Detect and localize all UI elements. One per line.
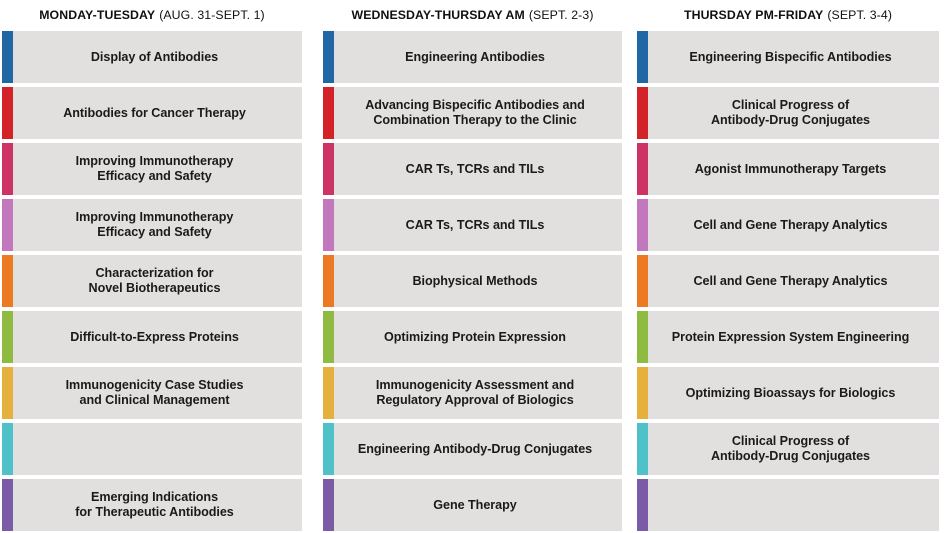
track-color-bar (323, 367, 334, 419)
track-color-bar (637, 423, 648, 475)
conference-track-grid: MONDAY-TUESDAY (AUG. 31-SEPT. 1) Display… (0, 0, 945, 533)
track-row-label: Improving Immunotherapy Efficacy and Saf… (76, 210, 234, 239)
column-header-day: WEDNESDAY-THURSDAY AM (351, 9, 524, 21)
track-row-body: Engineering Antibody-Drug Conjugates (334, 423, 622, 475)
track-row-label: Characterization for Novel Biotherapeuti… (89, 266, 221, 295)
track-row-body: Cell and Gene Therapy Analytics (648, 255, 939, 307)
track-row-body: Optimizing Protein Expression (334, 311, 622, 363)
track-row-body: Immunogenicity Assessment and Regulatory… (334, 367, 622, 419)
track-row-body: Gene Therapy (334, 479, 622, 531)
track-color-bar (2, 423, 13, 475)
column-header-day: THURSDAY PM-FRIDAY (684, 9, 823, 21)
track-row[interactable]: CAR Ts, TCRs and TILs (323, 143, 622, 195)
track-color-bar (637, 199, 648, 251)
track-row[interactable]: CAR Ts, TCRs and TILs (323, 199, 622, 251)
track-row[interactable]: Immunogenicity Case Studies and Clinical… (2, 367, 302, 419)
column-header-thursday-pm-friday: THURSDAY PM-FRIDAY (SEPT. 3-4) (637, 0, 939, 31)
track-row-label: Protein Expression System Engineering (672, 330, 910, 345)
track-color-bar (637, 87, 648, 139)
track-color-bar (637, 31, 648, 83)
column-gap-1 (302, 0, 323, 533)
track-row-body: Clinical Progress of Antibody-Drug Conju… (648, 87, 939, 139)
track-row-body: Biophysical Methods (334, 255, 622, 307)
track-row[interactable]: Clinical Progress of Antibody-Drug Conju… (637, 423, 939, 475)
track-color-bar (2, 31, 13, 83)
track-row[interactable] (637, 479, 939, 531)
track-row-label: Antibodies for Cancer Therapy (63, 106, 246, 121)
track-row-label: Engineering Antibody-Drug Conjugates (358, 442, 592, 457)
track-row-body: Protein Expression System Engineering (648, 311, 939, 363)
column-header-dates: (SEPT. 3-4) (827, 9, 892, 21)
track-row-label: Clinical Progress of Antibody-Drug Conju… (711, 98, 870, 127)
track-color-bar (2, 367, 13, 419)
track-row-body: Advancing Bispecific Antibodies and Comb… (334, 87, 622, 139)
track-row-label: Gene Therapy (433, 498, 516, 513)
track-column-wednesday-thursday-am: WEDNESDAY-THURSDAY AM (SEPT. 2-3) Engine… (323, 0, 622, 533)
track-color-bar (2, 87, 13, 139)
track-color-bar (323, 31, 334, 83)
track-row[interactable]: Cell and Gene Therapy Analytics (637, 199, 939, 251)
track-row-body: Engineering Antibodies (334, 31, 622, 83)
track-row-label: Biophysical Methods (412, 274, 537, 289)
track-color-bar (323, 423, 334, 475)
track-row-label: Improving Immunotherapy Efficacy and Saf… (76, 154, 234, 183)
track-row-label: Difficult-to-Express Proteins (70, 330, 239, 345)
track-color-bar (2, 311, 13, 363)
track-row-body: Antibodies for Cancer Therapy (13, 87, 302, 139)
track-row[interactable]: Advancing Bispecific Antibodies and Comb… (323, 87, 622, 139)
track-row-label: Advancing Bispecific Antibodies and Comb… (365, 98, 585, 127)
track-color-bar (2, 143, 13, 195)
column-header-dates: (SEPT. 2-3) (529, 9, 594, 21)
track-row-list: Display of AntibodiesAntibodies for Canc… (2, 31, 302, 531)
track-row[interactable]: Optimizing Protein Expression (323, 311, 622, 363)
track-row-label: Agonist Immunotherapy Targets (695, 162, 886, 177)
track-row[interactable]: Protein Expression System Engineering (637, 311, 939, 363)
track-row-body: CAR Ts, TCRs and TILs (334, 199, 622, 251)
track-color-bar (637, 255, 648, 307)
track-row-body: Agonist Immunotherapy Targets (648, 143, 939, 195)
track-column-monday-tuesday: MONDAY-TUESDAY (AUG. 31-SEPT. 1) Display… (2, 0, 302, 533)
track-row[interactable]: Characterization for Novel Biotherapeuti… (2, 255, 302, 307)
track-row-label: Emerging Indications for Therapeutic Ant… (75, 490, 233, 519)
track-color-bar (323, 87, 334, 139)
track-row[interactable]: Optimizing Bioassays for Biologics (637, 367, 939, 419)
track-row[interactable]: Engineering Antibodies (323, 31, 622, 83)
track-row-body: Display of Antibodies (13, 31, 302, 83)
track-color-bar (637, 143, 648, 195)
track-row-body: Difficult-to-Express Proteins (13, 311, 302, 363)
track-row-label: CAR Ts, TCRs and TILs (406, 162, 545, 177)
track-row[interactable]: Engineering Antibody-Drug Conjugates (323, 423, 622, 475)
track-row[interactable]: Antibodies for Cancer Therapy (2, 87, 302, 139)
track-row-body: CAR Ts, TCRs and TILs (334, 143, 622, 195)
track-row-label: Cell and Gene Therapy Analytics (694, 218, 888, 233)
column-header-day: MONDAY-TUESDAY (39, 9, 155, 21)
track-row-label: Clinical Progress of Antibody-Drug Conju… (711, 434, 870, 463)
track-row-label: Immunogenicity Case Studies and Clinical… (66, 378, 244, 407)
track-row-body (648, 479, 939, 531)
track-column-thursday-pm-friday: THURSDAY PM-FRIDAY (SEPT. 3-4) Engineeri… (637, 0, 939, 533)
track-row-label: Cell and Gene Therapy Analytics (694, 274, 888, 289)
track-row-label: Engineering Antibodies (405, 50, 545, 65)
track-color-bar (323, 479, 334, 531)
track-color-bar (637, 479, 648, 531)
track-row[interactable]: Difficult-to-Express Proteins (2, 311, 302, 363)
track-row[interactable]: Improving Immunotherapy Efficacy and Saf… (2, 143, 302, 195)
track-row[interactable] (2, 423, 302, 475)
track-row-body: Optimizing Bioassays for Biologics (648, 367, 939, 419)
track-color-bar (323, 143, 334, 195)
track-row-label: Engineering Bispecific Antibodies (689, 50, 891, 65)
track-row[interactable]: Emerging Indications for Therapeutic Ant… (2, 479, 302, 531)
track-row-body: Clinical Progress of Antibody-Drug Conju… (648, 423, 939, 475)
track-row[interactable]: Biophysical Methods (323, 255, 622, 307)
track-row-label: Display of Antibodies (91, 50, 218, 65)
track-row-body: Characterization for Novel Biotherapeuti… (13, 255, 302, 307)
track-row[interactable]: Display of Antibodies (2, 31, 302, 83)
column-gap-2 (622, 0, 637, 533)
track-row[interactable]: Gene Therapy (323, 479, 622, 531)
column-header-wednesday-thursday-am: WEDNESDAY-THURSDAY AM (SEPT. 2-3) (323, 0, 622, 31)
track-row-body: Improving Immunotherapy Efficacy and Saf… (13, 199, 302, 251)
track-row-list: Engineering AntibodiesAdvancing Bispecif… (323, 31, 622, 531)
track-color-bar (2, 479, 13, 531)
track-color-bar (637, 311, 648, 363)
track-row-body: Cell and Gene Therapy Analytics (648, 199, 939, 251)
track-row-body: Immunogenicity Case Studies and Clinical… (13, 367, 302, 419)
track-row-label: Immunogenicity Assessment and Regulatory… (376, 378, 574, 407)
track-row[interactable]: Cell and Gene Therapy Analytics (637, 255, 939, 307)
column-header-dates: (AUG. 31-SEPT. 1) (159, 9, 265, 21)
track-color-bar (637, 367, 648, 419)
track-row-list: Engineering Bispecific AntibodiesClinica… (637, 31, 939, 531)
track-row-label: Optimizing Bioassays for Biologics (686, 386, 896, 401)
track-row[interactable]: Clinical Progress of Antibody-Drug Conju… (637, 87, 939, 139)
track-row-label: CAR Ts, TCRs and TILs (406, 218, 545, 233)
track-row[interactable]: Agonist Immunotherapy Targets (637, 143, 939, 195)
track-row-body (13, 423, 302, 475)
track-row-body: Improving Immunotherapy Efficacy and Saf… (13, 143, 302, 195)
track-color-bar (323, 311, 334, 363)
track-row[interactable]: Improving Immunotherapy Efficacy and Saf… (2, 199, 302, 251)
track-color-bar (2, 255, 13, 307)
track-row-body: Engineering Bispecific Antibodies (648, 31, 939, 83)
column-header-monday-tuesday: MONDAY-TUESDAY (AUG. 31-SEPT. 1) (2, 0, 302, 31)
track-color-bar (323, 255, 334, 307)
track-row-label: Optimizing Protein Expression (384, 330, 566, 345)
track-row[interactable]: Engineering Bispecific Antibodies (637, 31, 939, 83)
track-color-bar (323, 199, 334, 251)
track-color-bar (2, 199, 13, 251)
track-row-body: Emerging Indications for Therapeutic Ant… (13, 479, 302, 531)
track-row[interactable]: Immunogenicity Assessment and Regulatory… (323, 367, 622, 419)
